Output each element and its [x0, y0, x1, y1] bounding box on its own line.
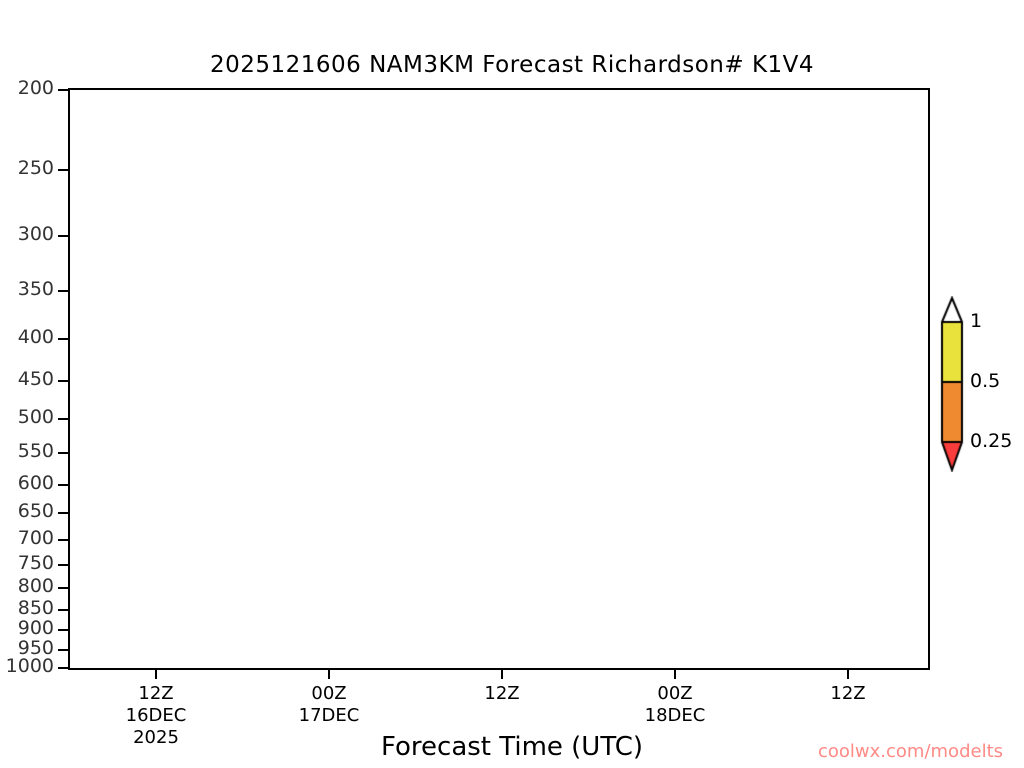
watermark-link[interactable]: coolwx.com/modelts	[818, 741, 1003, 762]
y-axis-tick	[58, 235, 68, 237]
x-axis-tick	[501, 670, 503, 679]
y-axis-tick	[58, 290, 68, 292]
colorbar-tick-label: 0.25	[970, 430, 1012, 452]
x-axis-tick	[847, 670, 849, 679]
y-axis-tick-label: 550	[0, 440, 54, 462]
y-axis-tick	[58, 649, 68, 651]
y-axis-tick-label: 200	[0, 77, 54, 99]
x-axis-tick-label: 12Z	[788, 683, 908, 705]
y-axis-tick-label: 400	[0, 326, 54, 348]
y-axis-tick	[58, 338, 68, 340]
y-axis-tick	[58, 452, 68, 454]
x-axis-tick	[674, 670, 676, 679]
y-axis-tick-label: 450	[0, 368, 54, 390]
y-axis-tick-label: 650	[0, 500, 54, 522]
y-axis-tick-label: 300	[0, 223, 54, 245]
x-axis-tick	[155, 670, 157, 679]
y-axis-tick	[58, 564, 68, 566]
x-axis-tick-label: 00Z17DEC	[269, 683, 389, 727]
y-axis-tick	[58, 512, 68, 514]
colorbar-tick-label: 1	[970, 310, 982, 332]
y-axis-tick-label: 250	[0, 157, 54, 179]
y-axis-tick-label: 750	[0, 552, 54, 574]
plot-frame	[68, 88, 930, 670]
y-axis-tick	[58, 169, 68, 171]
y-axis-tick	[58, 484, 68, 486]
y-axis-tick	[58, 667, 68, 669]
y-axis-tick	[58, 609, 68, 611]
y-axis-tick-label: 700	[0, 527, 54, 549]
y-axis-tick-label: 600	[0, 472, 54, 494]
y-axis-tick	[58, 587, 68, 589]
y-axis-tick-label: 350	[0, 278, 54, 300]
colorbar-gradient	[938, 296, 970, 472]
x-axis-tick-label: 12Z	[442, 683, 562, 705]
x-axis-tick	[328, 670, 330, 679]
y-axis-tick	[58, 539, 68, 541]
y-axis-tick-label: 500	[0, 406, 54, 428]
x-axis-tick-label: 00Z18DEC	[615, 683, 735, 727]
chart-canvas-root: 2025121606 NAM3KM Forecast Richardson# K…	[0, 0, 1024, 768]
colorbar	[938, 296, 970, 472]
y-axis-tick	[58, 89, 68, 91]
colorbar-tick-label: 0.5	[970, 370, 1000, 392]
y-axis-tick-label: 800	[0, 575, 54, 597]
y-axis-tick-label: 1000	[0, 655, 54, 677]
y-axis-tick	[58, 418, 68, 420]
y-axis-tick-label: 850	[0, 597, 54, 619]
page-title: 2025121606 NAM3KM Forecast Richardson# K…	[0, 52, 1024, 78]
y-axis-tick	[58, 629, 68, 631]
y-axis-tick	[58, 380, 68, 382]
